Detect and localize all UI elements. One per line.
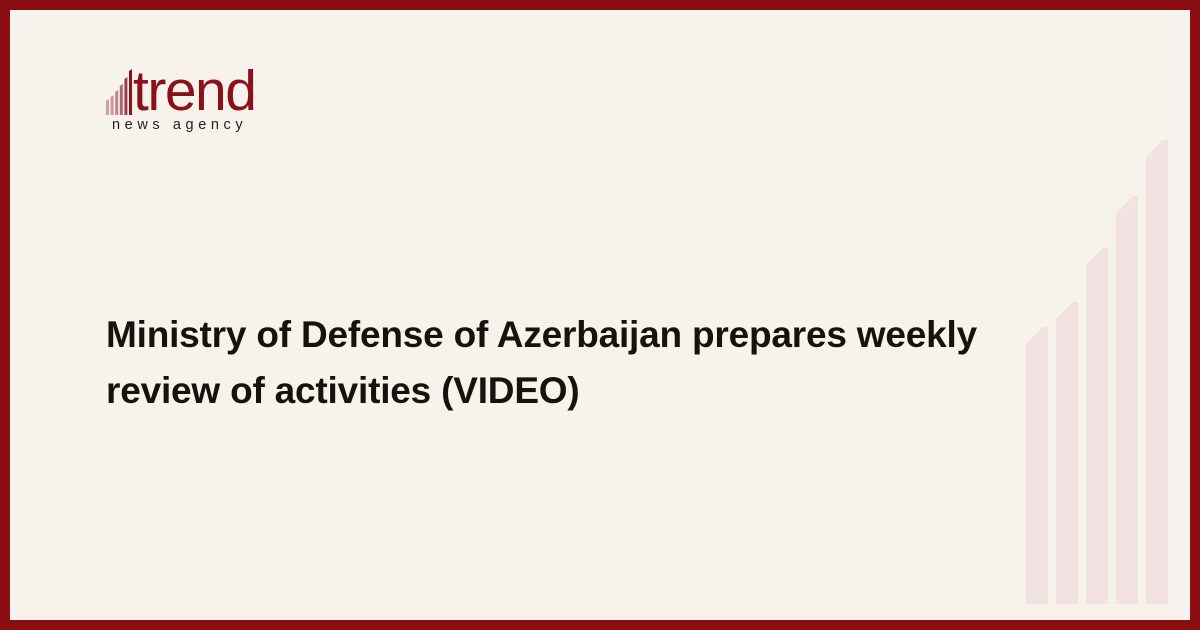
- headline-text: Ministry of Defense of Azerbaijan prepar…: [106, 307, 1026, 419]
- ascending-bars-graphic: [1010, 20, 1190, 630]
- card-canvas: trend news agency Ministry of Defense of…: [20, 20, 1200, 630]
- logo-wordmark-row: trend: [106, 58, 366, 116]
- logo-wordmark: trend: [133, 67, 255, 116]
- social-share-card: trend news agency Ministry of Defense of…: [0, 0, 1200, 630]
- ascending-bars-icon: [106, 69, 132, 115]
- site-logo[interactable]: trend news agency: [106, 58, 366, 154]
